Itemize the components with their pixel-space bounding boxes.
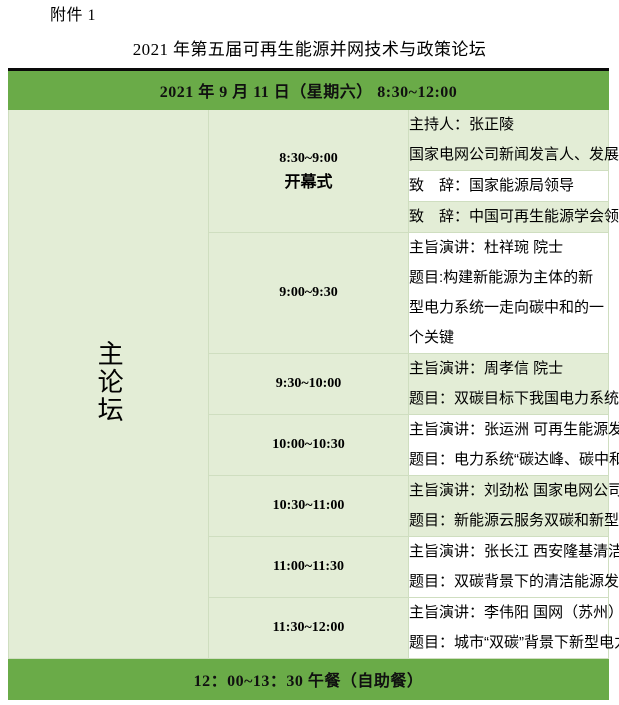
session-content-line: 致 辞：国家能源局领导 [409,171,608,201]
session-time: 8:30~9:00 [279,151,338,166]
session-content-line: 主旨演讲：刘劲松 国家电网公司发展策划部副主任 [409,476,608,506]
session-content-line: 题目：双碳背景下的清洁能源发展趋势探讨 [409,567,608,597]
page-title: 2021 年第五届可再生能源并网技术与政策论坛 [0,38,619,62]
session-time-cell: 11:30~12:00 [209,598,409,659]
session-content-line: 题目：城市“双碳”背景下新型电力系统构建的思考 [409,628,608,658]
session-content-line: 题目：新能源云服务双碳和新型电力系统建设 [409,506,608,536]
session-content-cell: 主旨演讲：李伟阳 国网（苏州）城市能源研究院 院长题目：城市“双碳”背景下新型电… [409,598,609,659]
session-content-cell: 主旨演讲：刘劲松 国家电网公司发展策划部副主任题目：新能源云服务双碳和新型电力系… [409,476,609,537]
session-content-line: 主持人：张正陵 [409,110,608,140]
session-content-line: 主旨演讲：杜祥琬 院士 [409,233,608,263]
session-time: 11:30~12:00 [273,620,345,635]
session-content-line: 主旨演讲：李伟阳 国网（苏州）城市能源研究院 院长 [409,598,608,628]
session-content-cell: 致 辞：中国可再生能源学会领导 [409,202,609,233]
forum-label-cell: 主论坛 [9,110,209,659]
attachment-label: 附件 1 [50,5,96,27]
session-content-line: 主旨演讲：张运洲 可再生能源发电并网专委会主任委员 [409,415,608,445]
session-time: 11:00~11:30 [273,559,344,574]
session-content-line: 致 辞：中国可再生能源学会领导 [409,202,608,232]
session-time-cell: 8:30~9:00开幕式 [209,110,409,233]
session-content-cell: 主旨演讲：杜祥琬 院士题目:构建新能源为主体的新型电力系统一走向碳中和的一个关键 [409,233,609,354]
session-content-cell: 主旨演讲：周孝信 院士题目：双碳目标下我国电力系统发展情景和关键技术 [409,354,609,415]
session-content-line: 题目：双碳目标下我国电力系统发展情景和关键技术 [409,384,608,414]
session-time: 10:30~11:00 [273,498,345,513]
session-content-line: 题目:构建新能源为主体的新型电力系统一走向碳中和的一个关键 [409,263,608,353]
agenda-row: 主论坛8:30~9:00开幕式主持人：张正陵国家电网公司新闻发言人、发展策划部副… [9,110,609,171]
session-content-line: 国家电网公司新闻发言人、发展策划部副主任 [409,140,608,170]
session-time-cell: 9:00~9:30 [209,233,409,354]
session-time: 9:30~10:00 [276,376,342,391]
session-content-cell: 主持人：张正陵国家电网公司新闻发言人、发展策划部副主任 [409,110,609,171]
date-header-banner: 2021 年 9 月 11 日（星期六） 8:30~12:00 [9,70,609,110]
forum-label: 主论坛 [91,340,126,424]
session-content-cell: 致 辞：国家能源局领导 [409,171,609,202]
lunch-footer-banner: 12：00~13：30 午餐（自助餐） [9,659,609,700]
session-time-subtitle: 开幕式 [209,172,408,194]
session-time-cell: 9:30~10:00 [209,354,409,415]
date-header-row: 2021 年 9 月 11 日（星期六） 8:30~12:00 [9,70,609,110]
session-time-cell: 10:00~10:30 [209,415,409,476]
lunch-footer-row: 12：00~13：30 午餐（自助餐） [9,659,609,700]
session-content-cell: 主旨演讲：张长江 西安隆基清洁能源有限公司 董事长题目：双碳背景下的清洁能源发展… [409,537,609,598]
session-content-line: 主旨演讲：张长江 西安隆基清洁能源有限公司 董事长 [409,537,608,567]
session-content-cell: 主旨演讲：张运洲 可再生能源发电并网专委会主任委员题目：电力系统“碳达峰、碳中和… [409,415,609,476]
agenda-table-body: 2021 年 9 月 11 日（星期六） 8:30~12:00 主论坛8:30~… [9,70,609,700]
session-time-cell: 11:00~11:30 [209,537,409,598]
agenda-table: 2021 年 9 月 11 日（星期六） 8:30~12:00 主论坛8:30~… [8,68,609,700]
session-content-line: 题目：电力系统“碳达峰、碳中和”路径及重大问题探讨 [409,445,608,475]
session-time: 9:00~9:30 [279,285,338,300]
session-time: 10:00~10:30 [272,437,345,452]
agenda-table-wrapper: 2021 年 9 月 11 日（星期六） 8:30~12:00 主论坛8:30~… [8,68,609,700]
session-time-cell: 10:30~11:00 [209,476,409,537]
session-content-line: 主旨演讲：周孝信 院士 [409,354,608,384]
